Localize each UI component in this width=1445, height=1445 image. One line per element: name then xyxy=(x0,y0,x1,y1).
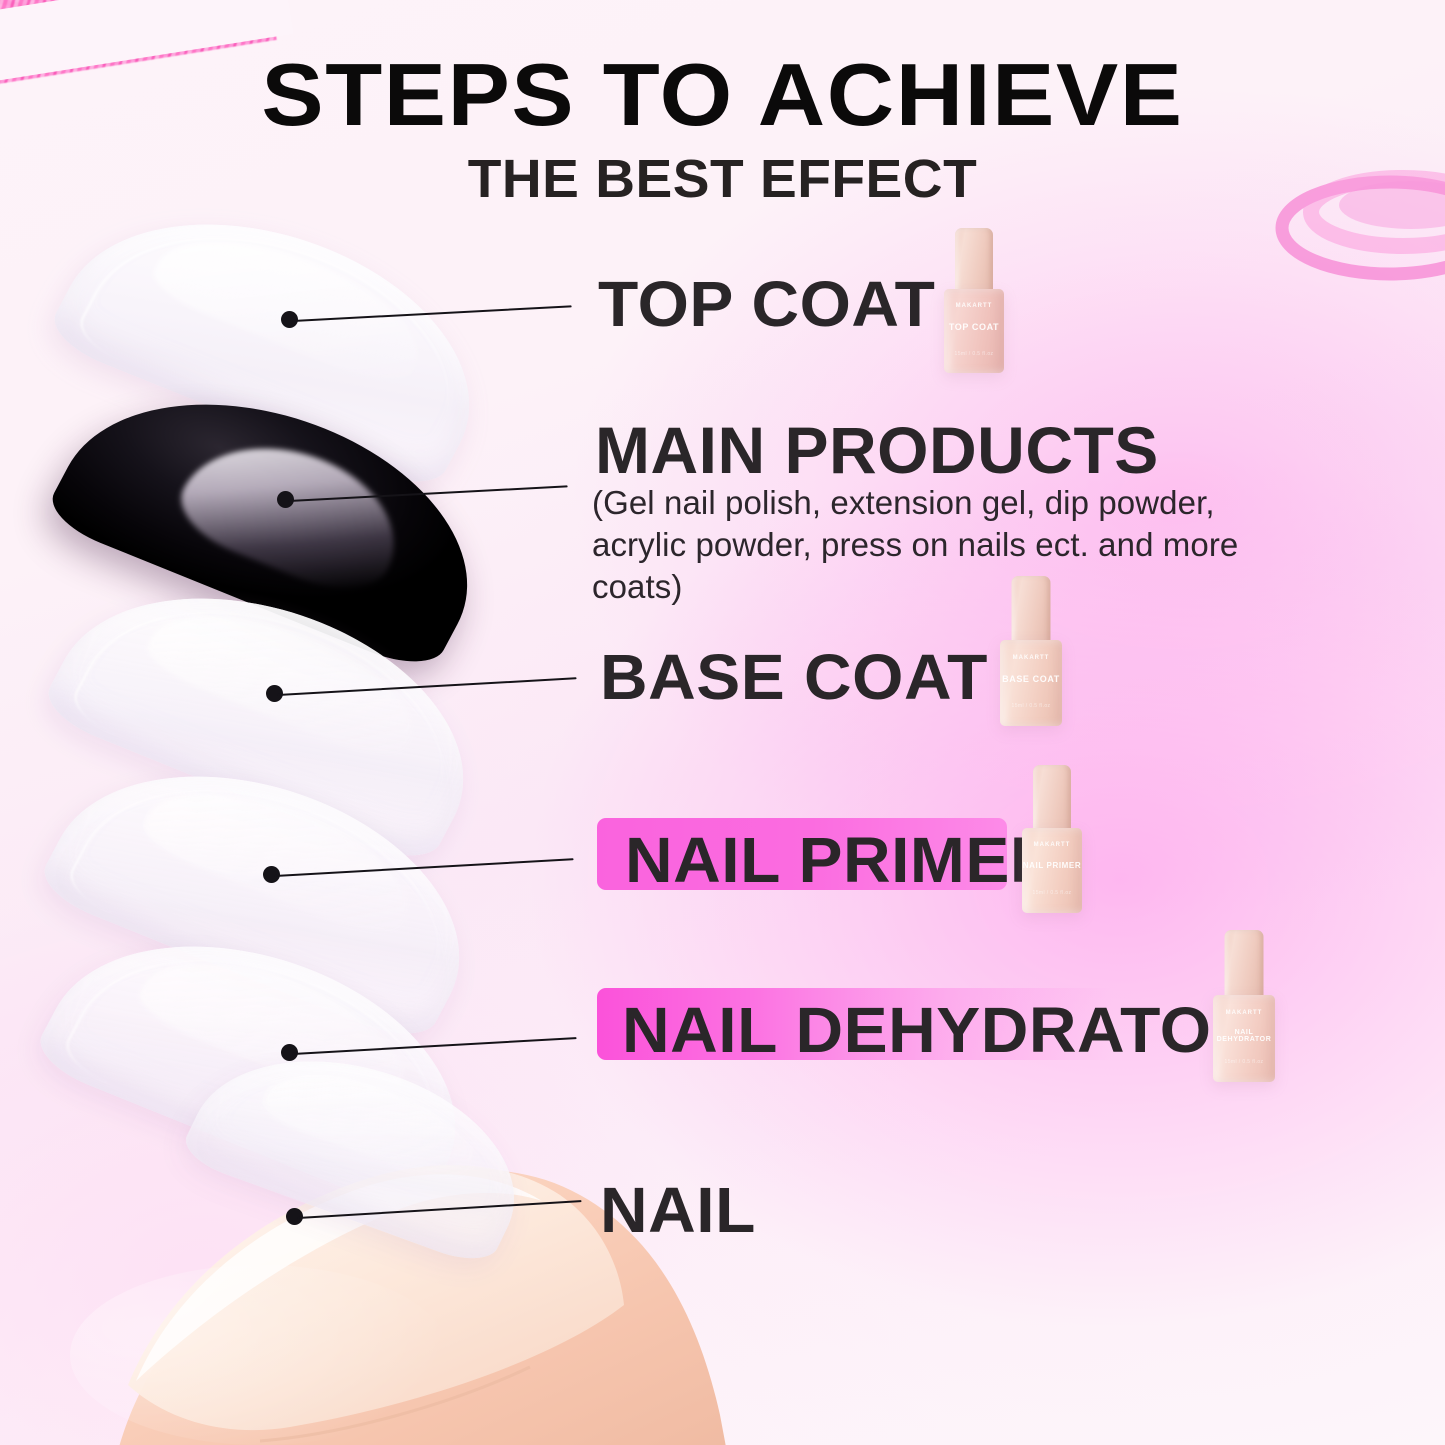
bottle-brand-text: MAKARTT xyxy=(1022,842,1082,848)
bottle-top-coat: MAKARTT TOP COAT 15ml / 0.5 fl.oz xyxy=(944,228,1004,373)
step-label-nail: NAIL xyxy=(600,1178,756,1242)
step-note-main-products: (Gel nail polish, extension gel, dip pow… xyxy=(592,482,1282,609)
bottle-glass: MAKARTT NAIL PRIMER 15ml / 0.5 fl.oz xyxy=(1022,828,1082,913)
bottle-brand-text: MAKARTT xyxy=(1000,655,1062,661)
bottle-brand-text: MAKARTT xyxy=(1213,1010,1275,1016)
bottle-volume-text: 15ml / 0.5 fl.oz xyxy=(944,351,1004,357)
bottle-brand-text: MAKARTT xyxy=(944,303,1004,309)
bottle-nail-dehydrator: MAKARTT NAIL DEHYDRATOR 15ml / 0.5 fl.oz xyxy=(1213,930,1275,1082)
bottle-product-name: NAIL DEHYDRATOR xyxy=(1213,1029,1275,1043)
bottle-volume-text: 15ml / 0.5 fl.oz xyxy=(1000,703,1062,709)
header-block: STEPS TO ACHIEVE THE BEST EFFECT xyxy=(0,52,1445,206)
bottle-glass: MAKARTT NAIL DEHYDRATOR 15ml / 0.5 fl.oz xyxy=(1213,995,1275,1082)
step-label-nail-primer: NAIL PRIMER xyxy=(625,828,1058,892)
page-title: STEPS TO ACHIEVE xyxy=(0,52,1445,138)
bottle-product-name: BASE COAT xyxy=(1000,674,1062,684)
infographic-poster: STEPS TO ACHIEVE THE BEST EFFECT xyxy=(0,0,1445,1445)
bottle-volume-text: 15ml / 0.5 fl.oz xyxy=(1213,1059,1275,1065)
step-label-top-coat: TOP COAT xyxy=(598,272,935,336)
bottle-product-name: TOP COAT xyxy=(944,322,1004,332)
page-subtitle: THE BEST EFFECT xyxy=(0,152,1445,206)
bottle-base-coat: MAKARTT BASE COAT 15ml / 0.5 fl.oz xyxy=(1000,576,1062,726)
bottle-cap xyxy=(1012,576,1051,650)
bottle-volume-text: 15ml / 0.5 fl.oz xyxy=(1022,890,1082,896)
bottle-cap xyxy=(1225,930,1264,1005)
bottle-glass: MAKARTT BASE COAT 15ml / 0.5 fl.oz xyxy=(1000,640,1062,726)
step-label-main-products: MAIN PRODUCTS xyxy=(595,417,1159,483)
step-label-base-coat: BASE COAT xyxy=(600,645,988,709)
bottle-glass: MAKARTT TOP COAT 15ml / 0.5 fl.oz xyxy=(944,289,1004,373)
step-label-nail-dehydrator: NAIL DEHYDRATOR xyxy=(622,998,1260,1062)
bottle-product-name: NAIL PRIMER xyxy=(1022,861,1082,870)
bottle-nail-primer: MAKARTT NAIL PRIMER 15ml / 0.5 fl.oz xyxy=(1022,765,1082,913)
